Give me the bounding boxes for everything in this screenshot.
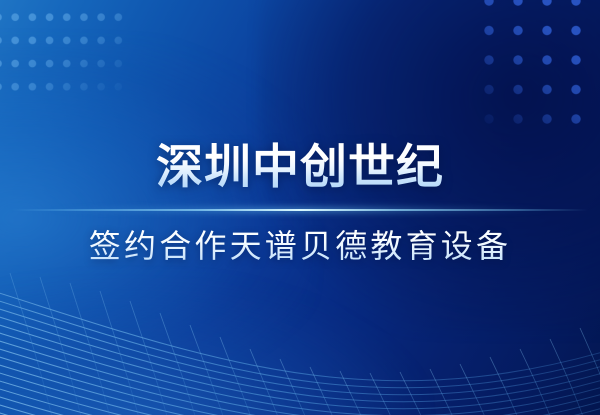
promo-banner: 深圳中创世纪 签约合作天谱贝德教育设备 xyxy=(0,0,600,415)
banner-text-block: 深圳中创世纪 签约合作天谱贝德教育设备 xyxy=(0,0,600,415)
banner-title: 深圳中创世纪 xyxy=(0,139,600,195)
banner-subtitle: 签约合作天谱贝德教育设备 xyxy=(0,226,600,266)
